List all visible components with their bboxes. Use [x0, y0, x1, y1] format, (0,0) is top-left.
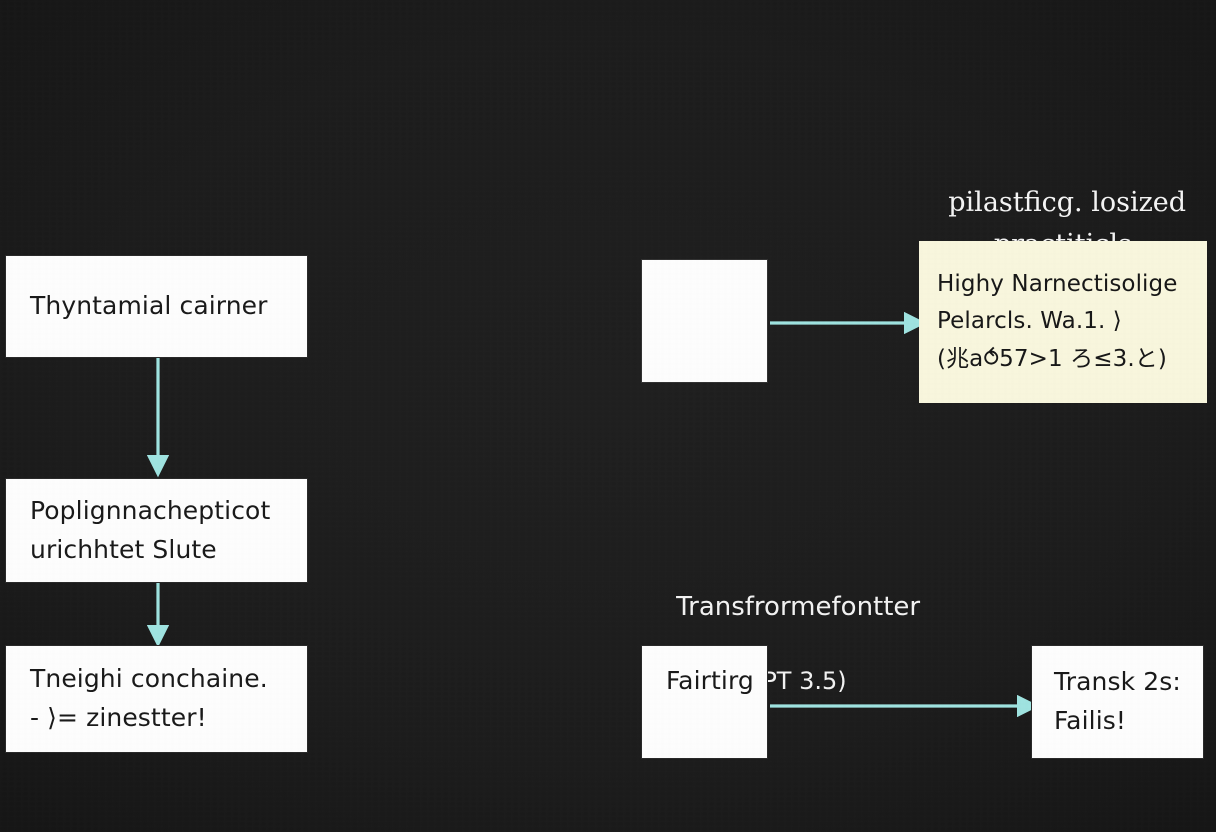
note-card-line-3: (兆a⥀57>1 ろ≤3.と)	[937, 341, 1167, 378]
source-node-line-1: Fairtirg	[666, 662, 754, 701]
left-node-3-line-1: Tneighi conchaine.	[30, 660, 268, 699]
left-node-2[interactable]: Poplignnachepticot urichhtet Slute	[5, 478, 308, 583]
note-card-line-2: Pelarcls. Wa.1. ⟩	[937, 303, 1122, 340]
target-node-line-2: Failis!	[1054, 702, 1126, 741]
left-node-2-line-1: Poplignnachepticot	[30, 492, 270, 531]
note-card-line-1: Highy Narnectisolige	[937, 266, 1178, 303]
serif-note-line-1: pilastficg. losized	[948, 187, 1186, 218]
blank-node[interactable]	[641, 259, 768, 383]
target-node[interactable]: Transk 2s: Failis!	[1031, 645, 1204, 759]
source-node[interactable]: Fairtirg	[641, 645, 768, 759]
left-node-1-line-1: Thyntamial cairner	[30, 287, 268, 326]
note-card[interactable]: Highy Narnectisolige Pelarcls. Wa.1. ⟩ (…	[919, 241, 1207, 403]
transformer-caption-title: Transfrormefontter	[676, 592, 920, 622]
left-node-2-line-2: urichhtet Slute	[30, 531, 217, 570]
left-node-3[interactable]: Tneighi conchaine. - ⟩= zinestter!	[5, 645, 308, 753]
target-node-line-1: Transk 2s:	[1054, 663, 1181, 702]
left-node-1[interactable]: Thyntamial cairner	[5, 255, 308, 358]
diagram-canvas: Thyntamial cairner Poplignnachepticot ur…	[0, 0, 1216, 832]
left-node-3-line-2: - ⟩= zinestter!	[30, 699, 207, 738]
